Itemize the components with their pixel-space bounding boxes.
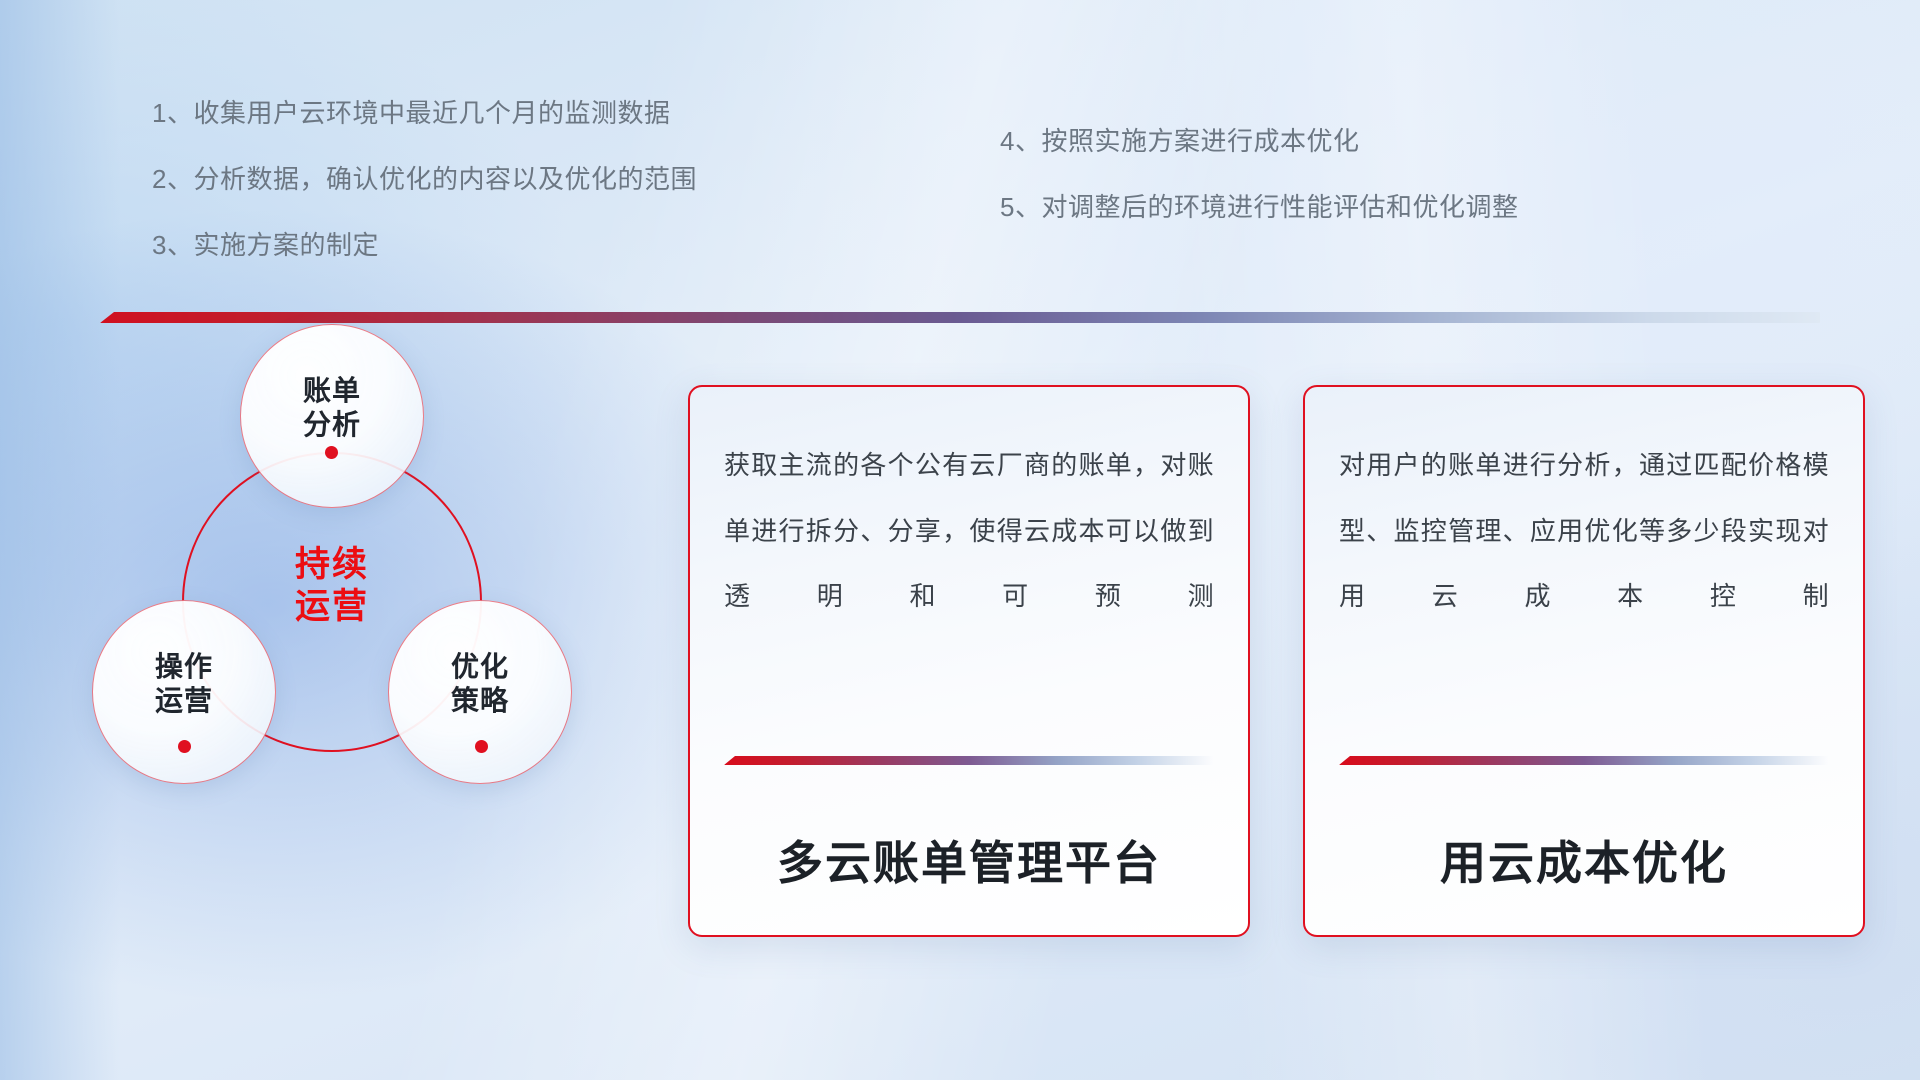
venn-label-billing-analysis: 账单 分析	[240, 374, 424, 442]
venn-center-label: 持续 运营	[182, 544, 482, 628]
slide-canvas: 1、收集用户云环境中最近几个月的监测数据 2、分析数据，确认优化的内容以及优化的…	[0, 0, 1920, 1080]
card-body-text: 获取主流的各个公有云厂商的账单，对账单进行拆分、分享，使得云成本可以做到透明和可…	[724, 433, 1214, 683]
venn-label-line-2: 策略	[388, 684, 572, 718]
step-item-5: 5、对调整后的环境进行性能评估和优化调整	[1000, 194, 1518, 220]
card-divider-rule	[1339, 756, 1829, 765]
card-body-text: 对用户的账单进行分析，通过匹配价格模型、监控管理、应用优化等多少段实现对用云成本…	[1339, 433, 1829, 683]
card-title: 多云账单管理平台	[724, 765, 1214, 935]
steps-column-right: 4、按照实施方案进行成本优化 5、对调整后的环境进行性能评估和优化调整	[1000, 128, 1518, 220]
venn-label-operation-management: 操作 运营	[92, 650, 276, 718]
venn-label-optimization-strategy: 优化 策略	[388, 650, 572, 718]
step-item-1: 1、收集用户云环境中最近几个月的监测数据	[152, 100, 697, 126]
step-item-3: 3、实施方案的制定	[152, 232, 697, 258]
venn-center-line-2: 运营	[182, 586, 482, 628]
venn-label-line-2: 分析	[240, 408, 424, 442]
steps-column-left: 1、收集用户云环境中最近几个月的监测数据 2、分析数据，确认优化的内容以及优化的…	[152, 100, 697, 258]
venn-label-line-2: 运营	[92, 684, 276, 718]
venn-node-dot-bottom-left	[178, 740, 191, 753]
section-divider-bar	[100, 312, 1820, 323]
venn-diagram: 账单 分析 操作 运营 优化 策略 持续 运营	[92, 352, 622, 952]
feature-card-multi-cloud-billing-platform[interactable]: 获取主流的各个公有云厂商的账单，对账单进行拆分、分享，使得云成本可以做到透明和可…	[688, 385, 1250, 937]
venn-label-line-1: 账单	[240, 374, 424, 408]
card-title: 用云成本优化	[1339, 765, 1829, 935]
feature-card-cloud-cost-optimization[interactable]: 对用户的账单进行分析，通过匹配价格模型、监控管理、应用优化等多少段实现对用云成本…	[1303, 385, 1865, 937]
venn-node-dot-bottom-right	[475, 740, 488, 753]
venn-center-line-1: 持续	[182, 544, 482, 586]
venn-node-dot-top	[325, 446, 338, 459]
venn-label-line-1: 优化	[388, 650, 572, 684]
step-item-2: 2、分析数据，确认优化的内容以及优化的范围	[152, 166, 697, 192]
venn-label-line-1: 操作	[92, 650, 276, 684]
card-divider-rule	[724, 756, 1214, 765]
step-item-4: 4、按照实施方案进行成本优化	[1000, 128, 1518, 154]
